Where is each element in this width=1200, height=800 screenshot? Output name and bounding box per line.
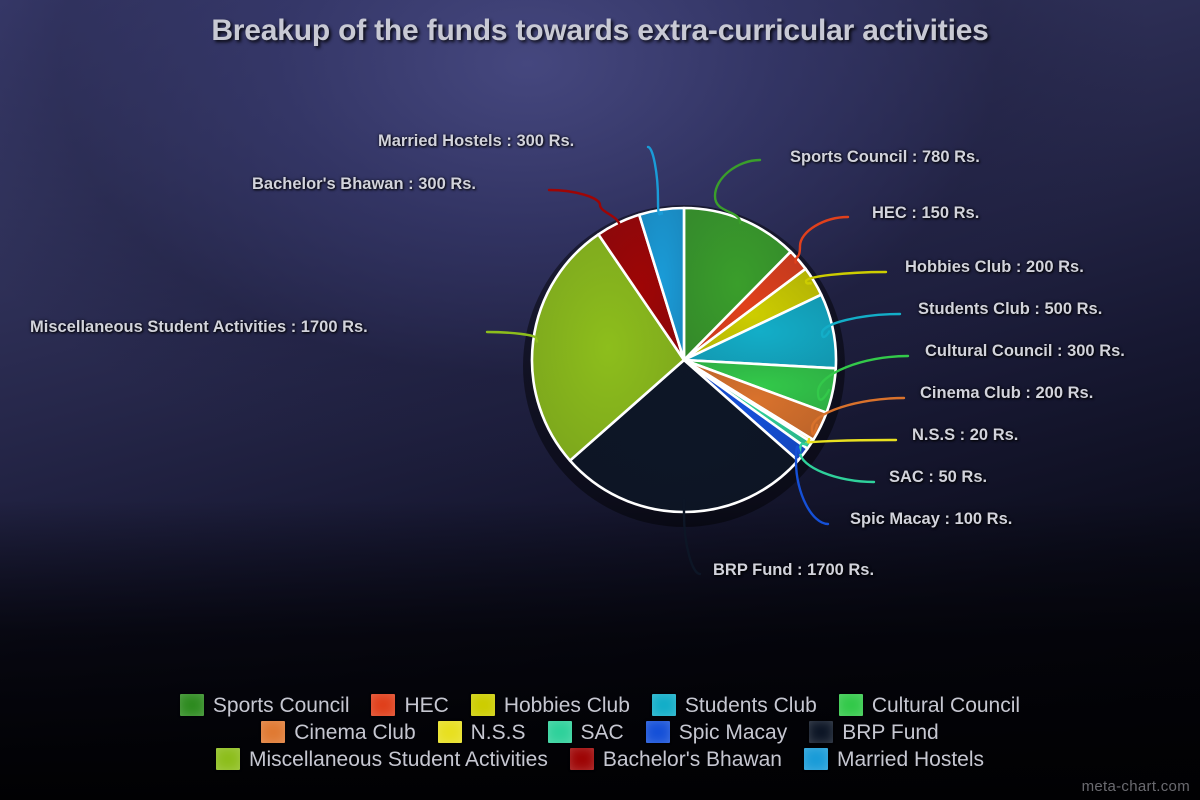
legend-row: Sports CouncilHECHobbies ClubStudents Cl… (169, 694, 1031, 716)
pie-callout-label: Bachelor's Bhawan : 300 Rs. (252, 175, 476, 194)
legend-label: Spic Macay (679, 722, 788, 743)
pie-callout-label: Spic Macay : 100 Rs. (850, 510, 1012, 529)
legend-label: Sports Council (213, 695, 350, 716)
chart-title: Breakup of the funds towards extra-curri… (0, 14, 1200, 48)
legend-label: Cultural Council (872, 695, 1020, 716)
pie-leader-line (795, 217, 848, 263)
legend-item[interactable]: Miscellaneous Student Activities (216, 748, 548, 770)
pie-callout-label: Cinema Club : 200 Rs. (920, 384, 1093, 403)
pie-callout-label: N.S.S : 20 Rs. (912, 426, 1018, 445)
legend-swatch (652, 694, 676, 716)
legend-swatch (180, 694, 204, 716)
legend-label: BRP Fund (842, 722, 939, 743)
legend-label: Cinema Club (294, 722, 415, 743)
pie-callout-label: BRP Fund : 1700 Rs. (713, 561, 874, 580)
legend-label: Students Club (685, 695, 817, 716)
legend-label: HEC (404, 695, 448, 716)
pie-callout-label: Married Hostels : 300 Rs. (378, 132, 574, 151)
pie-callout-label: HEC : 150 Rs. (872, 204, 979, 223)
legend-swatch (438, 721, 462, 743)
pie-leader-line (549, 190, 620, 227)
legend-row: Cinema ClubN.S.SSACSpic MacayBRP Fund (250, 721, 949, 743)
pie-callout-label: Students Club : 500 Rs. (918, 300, 1102, 319)
pie-callout-label: Hobbies Club : 200 Rs. (905, 258, 1084, 277)
pie-callout-label: SAC : 50 Rs. (889, 468, 987, 487)
legend-row: Miscellaneous Student ActivitiesBachelor… (205, 748, 995, 770)
legend-label: Hobbies Club (504, 695, 630, 716)
legend-label: Bachelor's Bhawan (603, 749, 782, 770)
legend-item[interactable]: Sports Council (180, 694, 350, 716)
legend-item[interactable]: Married Hostels (804, 748, 984, 770)
legend-swatch (216, 748, 240, 770)
legend-item[interactable]: Cultural Council (839, 694, 1020, 716)
legend-label: Miscellaneous Student Activities (249, 749, 548, 770)
pie-leader-line (648, 147, 662, 214)
legend-item[interactable]: HEC (371, 694, 448, 716)
legend-item[interactable]: Spic Macay (646, 721, 788, 743)
legend-swatch (261, 721, 285, 743)
legend-item[interactable]: BRP Fund (809, 721, 939, 743)
legend-swatch (570, 748, 594, 770)
pie-callout-label: Cultural Council : 300 Rs. (925, 342, 1125, 361)
legend-swatch (548, 721, 572, 743)
chart-canvas: Breakup of the funds towards extra-curri… (0, 0, 1200, 800)
watermark: meta-chart.com (1082, 778, 1190, 795)
legend-label: N.S.S (471, 722, 526, 743)
legend-swatch (646, 721, 670, 743)
legend-item[interactable]: SAC (548, 721, 624, 743)
legend-label: SAC (581, 722, 624, 743)
pie-callout-label: Miscellaneous Student Activities : 1700 … (30, 318, 368, 337)
legend-label: Married Hostels (837, 749, 984, 770)
legend-swatch (804, 748, 828, 770)
legend-swatch (809, 721, 833, 743)
legend-item[interactable]: Bachelor's Bhawan (570, 748, 782, 770)
legend-item[interactable]: Cinema Club (261, 721, 415, 743)
legend-item[interactable]: N.S.S (438, 721, 526, 743)
legend-swatch (371, 694, 395, 716)
pie-callout-label: Sports Council : 780 Rs. (790, 148, 980, 167)
chart-legend: Sports CouncilHECHobbies ClubStudents Cl… (0, 694, 1200, 770)
legend-swatch (839, 694, 863, 716)
legend-item[interactable]: Students Club (652, 694, 817, 716)
legend-swatch (471, 694, 495, 716)
legend-item[interactable]: Hobbies Club (471, 694, 630, 716)
